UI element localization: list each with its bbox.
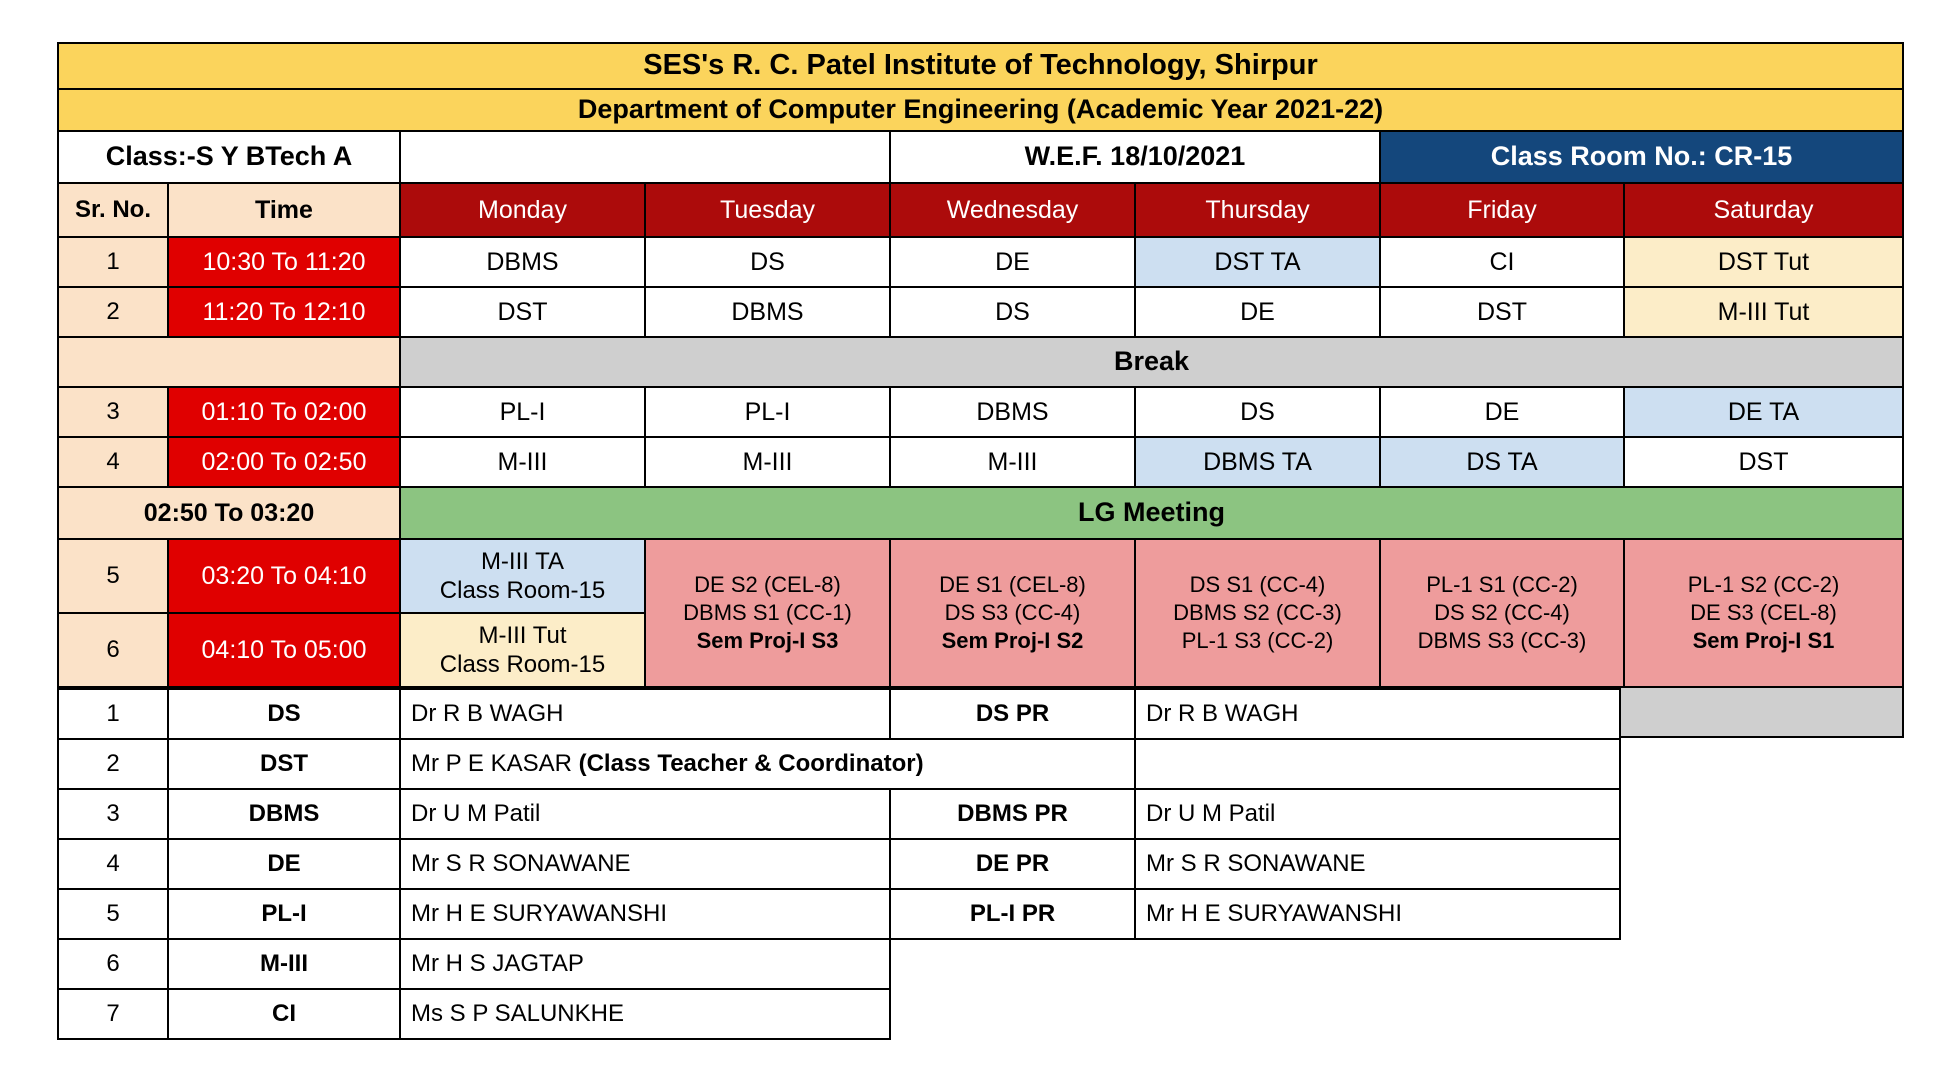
staff-subject: DST: [168, 739, 400, 789]
slot-tuesday[interactable]: PL-I: [645, 387, 890, 437]
staff-subject: CI: [168, 989, 400, 1039]
slot-line: Class Room-15: [405, 650, 640, 679]
practical-line: PL-1 S1 (CC-2): [1384, 571, 1620, 599]
staff-name-role: (Class Teacher & Coordinator): [579, 750, 924, 777]
staff-pr-name: Dr R B WAGH: [1135, 689, 1620, 739]
slot-saturday[interactable]: DST: [1624, 437, 1903, 487]
practical-line: DE S1 (CEL-8): [894, 571, 1131, 599]
practical-line: DBMS S1 (CC-1): [649, 599, 886, 627]
slot-line: M-III Tut: [405, 621, 640, 650]
column-header-friday: Friday: [1380, 183, 1624, 237]
staff-pr-name: Mr S R SONAWANE: [1135, 839, 1620, 889]
staff-row: 4 DE Mr S R SONAWANE DE PR Mr S R SONAWA…: [58, 839, 1620, 889]
slot-friday[interactable]: DST: [1380, 287, 1624, 337]
staff-name: Dr R B WAGH: [400, 689, 890, 739]
column-header-tuesday: Tuesday: [645, 183, 890, 237]
staff-subject: DS: [168, 689, 400, 739]
period-row: 4 02:00 To 02:50 M-III M-III M-III DBMS …: [58, 437, 1903, 487]
period-time: 10:30 To 11:20: [168, 237, 400, 287]
staff-index: 4: [58, 839, 168, 889]
period-srno: 6: [58, 613, 168, 687]
slot-monday[interactable]: M-III Tut Class Room-15: [400, 613, 645, 687]
practical-line: DS S1 (CC-4): [1139, 571, 1376, 599]
slot-line: M-III TA: [405, 547, 640, 576]
period-time: 01:10 To 02:00: [168, 387, 400, 437]
class-info-row: Class:-S Y BTech A W.E.F. 18/10/2021 Cla…: [58, 131, 1903, 183]
period-srno: 1: [58, 237, 168, 287]
teaching-staff-table: 1 DS Dr R B WAGH DS PR Dr R B WAGH 2 DST…: [57, 688, 1621, 1040]
slot-tuesday[interactable]: DBMS: [645, 287, 890, 337]
slot-friday[interactable]: DE: [1380, 387, 1624, 437]
staff-name: Mr H E SURYAWANSHI: [400, 889, 890, 939]
institute-title: SES's R. C. Patel Institute of Technolog…: [58, 43, 1903, 89]
break-row: Break: [58, 337, 1903, 387]
column-header-wednesday: Wednesday: [890, 183, 1135, 237]
staff-name-text: Mr P E KASAR: [411, 750, 579, 777]
practical-line: DS S2 (CC-4): [1384, 599, 1620, 627]
practical-line: Sem Proj-I S1: [1628, 627, 1899, 655]
staff-index: 7: [58, 989, 168, 1039]
break-label: Break: [400, 337, 1903, 387]
staff-pr-name: [1135, 739, 1620, 789]
practical-line: DE S3 (CEL-8): [1628, 599, 1899, 627]
timetable-sheet: SES's R. C. Patel Institute of Technolog…: [0, 0, 1937, 1078]
staff-name: Dr U M Patil: [400, 789, 890, 839]
staff-pr-subject: DS PR: [890, 689, 1135, 739]
practical-line: PL-1 S2 (CC-2): [1628, 571, 1899, 599]
practical-line: PL-1 S3 (CC-2): [1139, 627, 1376, 655]
practical-line: DBMS S3 (CC-3): [1384, 627, 1620, 655]
slot-friday[interactable]: CI: [1380, 237, 1624, 287]
practical-slot-friday[interactable]: PL-1 S1 (CC-2) DS S2 (CC-4) DBMS S3 (CC-…: [1380, 539, 1624, 687]
slot-wednesday[interactable]: DBMS: [890, 387, 1135, 437]
class-room-badge: Class Room No.: CR-15: [1380, 131, 1903, 183]
staff-name: Ms S P SALUNKHE: [400, 989, 890, 1039]
institute-title-row: SES's R. C. Patel Institute of Technolog…: [58, 43, 1903, 89]
day-header-row: Sr. No. Time Monday Tuesday Wednesday Th…: [58, 183, 1903, 237]
staff-row: 2 DST Mr P E KASAR (Class Teacher & Coor…: [58, 739, 1620, 789]
slot-wednesday[interactable]: DE: [890, 237, 1135, 287]
staff-pr-name-empty: [1135, 939, 1620, 989]
staff-index: 3: [58, 789, 168, 839]
staff-pr-subject-empty: [890, 989, 1135, 1039]
staff-subject: PL-I: [168, 889, 400, 939]
column-header-monday: Monday: [400, 183, 645, 237]
staff-pr-name: Mr H E SURYAWANSHI: [1135, 889, 1620, 939]
period-time: 11:20 To 12:10: [168, 287, 400, 337]
staff-index: 6: [58, 939, 168, 989]
staff-pr-subject: DE PR: [890, 839, 1135, 889]
slot-monday[interactable]: M-III TA Class Room-15: [400, 539, 645, 613]
column-header-saturday: Saturday: [1624, 183, 1903, 237]
staff-index: 5: [58, 889, 168, 939]
column-header-time: Time: [168, 183, 400, 237]
staff-name: Mr H S JAGTAP: [400, 939, 890, 989]
staff-name: Mr S R SONAWANE: [400, 839, 890, 889]
practical-line: DE S2 (CEL-8): [649, 571, 886, 599]
slot-monday[interactable]: DBMS: [400, 237, 645, 287]
period-row: 2 11:20 To 12:10 DST DBMS DS DE DST M-II…: [58, 287, 1903, 337]
lg-meeting-label: LG Meeting: [400, 487, 1903, 539]
staff-row: 5 PL-I Mr H E SURYAWANSHI PL-I PR Mr H E…: [58, 889, 1620, 939]
period-row: 1 10:30 To 11:20 DBMS DS DE DST TA CI DS…: [58, 237, 1903, 287]
staff-pr-name-empty: [1135, 989, 1620, 1039]
slot-monday[interactable]: DST: [400, 287, 645, 337]
column-header-srno: Sr. No.: [58, 183, 168, 237]
wef-date: W.E.F. 18/10/2021: [890, 131, 1380, 183]
staff-index: 2: [58, 739, 168, 789]
period-srno: 2: [58, 287, 168, 337]
practical-line: Sem Proj-I S2: [894, 627, 1131, 655]
period-time: 02:00 To 02:50: [168, 437, 400, 487]
slot-tuesday[interactable]: M-III: [645, 437, 890, 487]
staff-row: 1 DS Dr R B WAGH DS PR Dr R B WAGH: [58, 689, 1620, 739]
slot-saturday[interactable]: M-III Tut: [1624, 287, 1903, 337]
slot-saturday[interactable]: DE TA: [1624, 387, 1903, 437]
practical-slot-saturday[interactable]: PL-1 S2 (CC-2) DE S3 (CEL-8) Sem Proj-I …: [1624, 539, 1903, 687]
department-title: Department of Computer Engineering (Acad…: [58, 89, 1903, 131]
practical-slot-wednesday[interactable]: DE S1 (CEL-8) DS S3 (CC-4) Sem Proj-I S2: [890, 539, 1135, 687]
slot-wednesday[interactable]: M-III: [890, 437, 1135, 487]
staff-pr-subject: DBMS PR: [890, 789, 1135, 839]
practical-line: DS S3 (CC-4): [894, 599, 1131, 627]
staff-index: 1: [58, 689, 168, 739]
slot-thursday[interactable]: DS: [1135, 387, 1380, 437]
staff-row: 7 CI Ms S P SALUNKHE: [58, 989, 1620, 1039]
lg-meeting-time: 02:50 To 03:20: [58, 487, 400, 539]
practical-slot-thursday[interactable]: DS S1 (CC-4) DBMS S2 (CC-3) PL-1 S3 (CC-…: [1135, 539, 1380, 687]
practical-row: 5 03:20 To 04:10 M-III TA Class Room-15 …: [58, 539, 1903, 613]
column-header-thursday: Thursday: [1135, 183, 1380, 237]
department-row: Department of Computer Engineering (Acad…: [58, 89, 1903, 131]
staff-pr-name: Dr U M Patil: [1135, 789, 1620, 839]
practical-line: Sem Proj-I S3: [649, 627, 886, 655]
staff-name: Mr P E KASAR (Class Teacher & Coordinato…: [400, 739, 1135, 789]
practical-slot-tuesday[interactable]: DE S2 (CEL-8) DBMS S1 (CC-1) Sem Proj-I …: [645, 539, 890, 687]
slot-tuesday[interactable]: DS: [645, 237, 890, 287]
timetable-table: SES's R. C. Patel Institute of Technolog…: [57, 42, 1904, 738]
lg-meeting-row: 02:50 To 03:20 LG Meeting: [58, 487, 1903, 539]
staff-pr-subject-empty: [890, 939, 1135, 989]
period-srno: 5: [58, 539, 168, 613]
blank-cell: [400, 131, 890, 183]
staff-subject: DE: [168, 839, 400, 889]
staff-subject: DBMS: [168, 789, 400, 839]
class-label: Class:-S Y BTech A: [58, 131, 400, 183]
period-srno: 4: [58, 437, 168, 487]
slot-monday[interactable]: M-III: [400, 437, 645, 487]
slot-thursday[interactable]: DBMS TA: [1135, 437, 1380, 487]
practical-line: DBMS S2 (CC-3): [1139, 599, 1376, 627]
period-time: 04:10 To 05:00: [168, 613, 400, 687]
slot-thursday[interactable]: DST TA: [1135, 237, 1380, 287]
slot-thursday[interactable]: DE: [1135, 287, 1380, 337]
staff-subject: M-III: [168, 939, 400, 989]
slot-line: Class Room-15: [405, 576, 640, 605]
slot-monday[interactable]: PL-I: [400, 387, 645, 437]
staff-row: 6 M-III Mr H S JAGTAP: [58, 939, 1620, 989]
slot-friday[interactable]: DS TA: [1380, 437, 1624, 487]
staff-row: 3 DBMS Dr U M Patil DBMS PR Dr U M Patil: [58, 789, 1620, 839]
period-row: 3 01:10 To 02:00 PL-I PL-I DBMS DS DE DE…: [58, 387, 1903, 437]
staff-pr-subject: PL-I PR: [890, 889, 1135, 939]
slot-wednesday[interactable]: DS: [890, 287, 1135, 337]
break-time: [58, 337, 400, 387]
period-srno: 3: [58, 387, 168, 437]
period-time: 03:20 To 04:10: [168, 539, 400, 613]
slot-saturday[interactable]: DST Tut: [1624, 237, 1903, 287]
